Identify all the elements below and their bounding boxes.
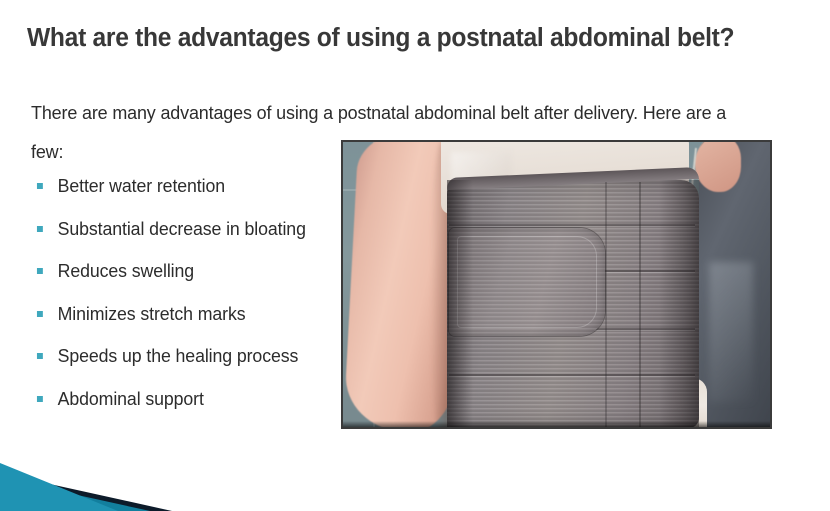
product-photo <box>341 140 772 429</box>
background-person-hand <box>695 142 741 192</box>
bullet-square-icon <box>37 183 43 189</box>
list-item: Speeds up the healing process <box>34 344 349 387</box>
list-item-label: Reduces swelling <box>58 261 194 281</box>
list-item-label: Minimizes stretch marks <box>58 304 246 324</box>
list-item-label: Substantial decrease in bloating <box>58 219 306 239</box>
bullet-square-icon <box>37 353 43 359</box>
list-item: Better water retention <box>34 174 349 217</box>
list-item-label: Speeds up the healing process <box>58 346 299 366</box>
bullet-square-icon <box>37 226 43 232</box>
belt-vertical-seam <box>639 182 641 427</box>
photo-content <box>343 142 770 427</box>
belt-velcro-pad-inner <box>457 236 597 328</box>
bullet-square-icon <box>37 311 43 317</box>
belt-shadow <box>659 180 699 427</box>
list-item: Reduces swelling <box>34 259 349 302</box>
page-title: What are the advantages of using a postn… <box>27 24 780 53</box>
advantages-list: Better water retention Substantial decre… <box>34 174 354 429</box>
belt-shadow <box>447 180 473 427</box>
list-item: Minimizes stretch marks <box>34 302 349 345</box>
photo-bottom-shade <box>343 421 770 427</box>
list-item: Abdominal support <box>34 387 349 430</box>
bullet-square-icon <box>37 268 43 274</box>
belt-vertical-seam <box>605 182 607 427</box>
garment-highlight <box>709 262 753 402</box>
list-item-label: Abdominal support <box>58 389 204 409</box>
slide-canvas: What are the advantages of using a postn… <box>0 0 830 511</box>
corner-decoration <box>0 451 240 511</box>
list-item: Substantial decrease in bloating <box>34 217 349 260</box>
bullet-square-icon <box>37 396 43 402</box>
list-item-label: Better water retention <box>58 176 225 196</box>
